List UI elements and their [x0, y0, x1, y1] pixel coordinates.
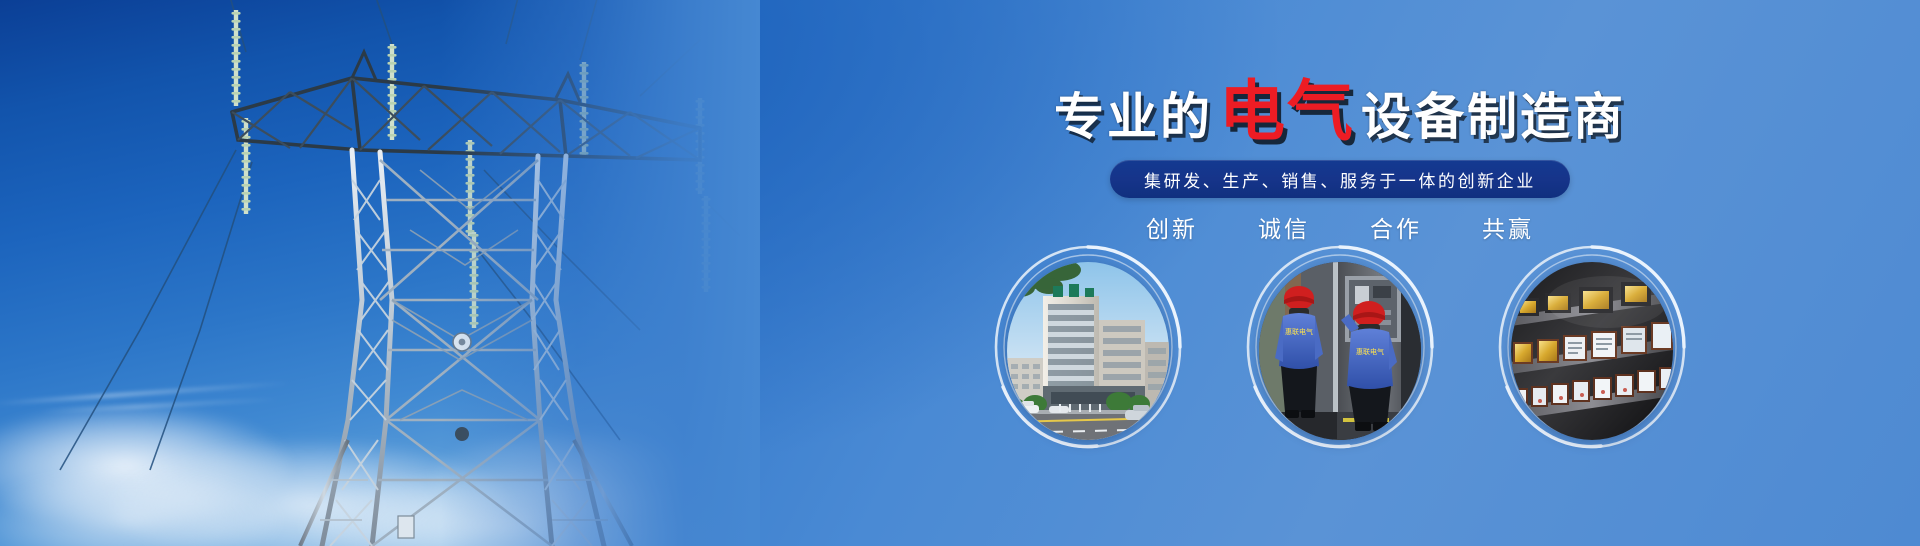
hero-banner: 专业的电气设备制造商 集研发、生产、销售、服务于一体的创新企业 创新 诚信 合作…: [0, 0, 1920, 546]
circle-photo-item[interactable]: [993, 256, 1183, 446]
circle-photo-list: 惠联电气 惠联电气: [760, 256, 1920, 446]
keyword-list: 创新 诚信 合作 共赢: [760, 210, 1920, 244]
subtitle-pill: 集研发、生产、销售、服务于一体的创新企业: [1110, 160, 1570, 198]
keyword-item-cooperation: 合作: [1370, 210, 1422, 244]
headline-part-2: 设备制造商: [1361, 89, 1626, 145]
page-title: 专业的电气设备制造商: [760, 78, 1920, 144]
keyword-item-innovation: 创新: [1146, 210, 1198, 244]
subtitle-pill-text: 集研发、生产、销售、服务于一体的创新企业: [1144, 167, 1536, 192]
transmission-tower-photo: [0, 0, 760, 546]
circle-photo-item[interactable]: 惠联电气 惠联电气: [1245, 256, 1435, 446]
headline-highlight: 电气: [1219, 74, 1355, 148]
circle-photo-item[interactable]: [1497, 256, 1687, 446]
svg-text:惠联电气: 惠联电气: [1356, 347, 1384, 356]
svg-text:惠联电气: 惠联电气: [1285, 327, 1313, 336]
certificates-wall-photo: [1511, 262, 1673, 440]
banner-content: 专业的电气设备制造商 集研发、生产、销售、服务于一体的创新企业 创新 诚信 合作…: [760, 0, 1920, 546]
workers-installation-photo: 惠联电气 惠联电气: [1259, 262, 1421, 440]
photo-fade-overlay: [0, 0, 760, 546]
headline-part-1: 专业的: [1054, 89, 1213, 145]
keyword-item-integrity: 诚信: [1258, 210, 1310, 244]
keyword-item-winwin: 共赢: [1482, 210, 1534, 244]
office-building-photo: [1007, 262, 1169, 440]
